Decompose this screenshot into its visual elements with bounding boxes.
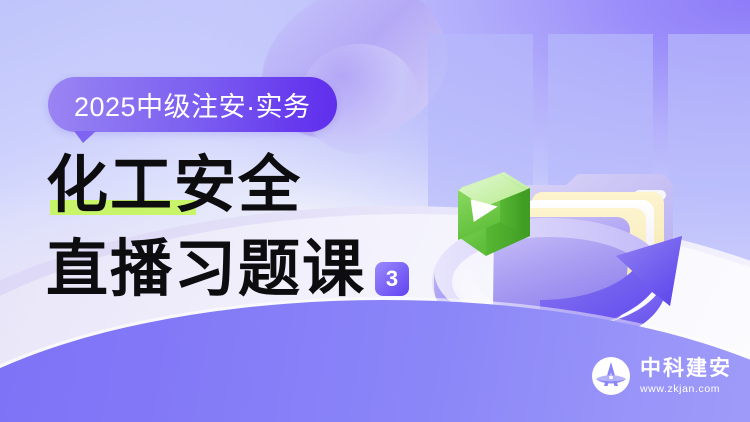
course-badge: 2025中级注安·实务 — [48, 77, 337, 132]
logo-website-url: www.zkjan.com — [640, 384, 732, 395]
course-badge-pill: 2025中级注安·实务 — [48, 77, 337, 132]
headline-text-primary: 化工安全 — [46, 155, 302, 217]
headline-line-1: 化工安全 — [46, 155, 476, 217]
headline-block: 化工安全 直播习题课 3 — [46, 155, 476, 301]
episode-number-badge: 3 — [375, 262, 409, 296]
headline-text-secondary: 直播习题课 — [46, 239, 366, 301]
course-banner: 2025中级注安·实务 化工安全 直播习题课 3 中科建安 www.zkjan.… — [0, 0, 750, 422]
logo-text-block: 中科建安 www.zkjan.com — [640, 358, 732, 395]
logo-mark-icon — [591, 356, 631, 396]
course-badge-label: 2025中级注安·实务 — [74, 85, 311, 124]
headline-line-2: 直播习题课 3 — [46, 239, 476, 301]
logo-company-name: 中科建安 — [640, 358, 732, 379]
course-badge-tail — [74, 131, 96, 143]
brand-logo[interactable]: 中科建安 www.zkjan.com — [591, 356, 732, 396]
